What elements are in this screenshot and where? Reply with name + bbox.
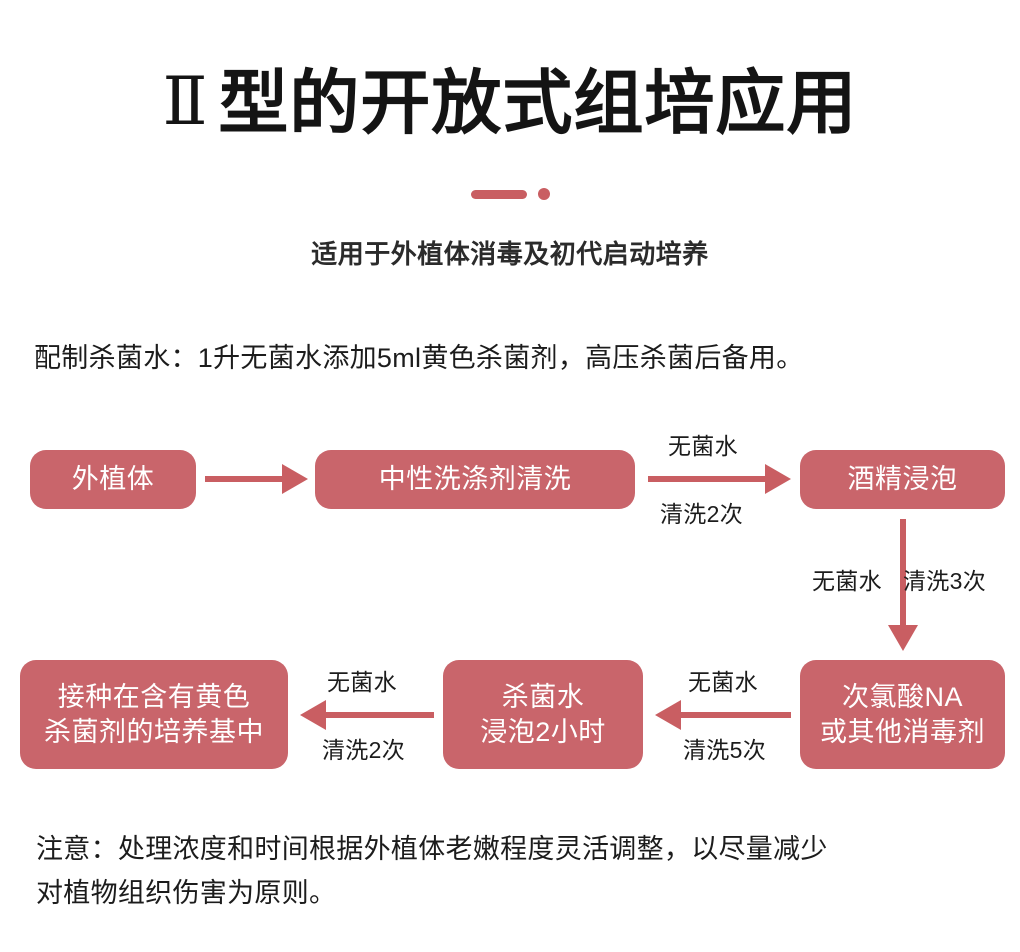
roman-numeral-two: Ⅱ [163,66,209,139]
flow-node-inoculate-medium: 接种在含有黄色 杀菌剂的培养基中 [20,660,288,769]
arrow-shaft [679,712,791,718]
page-subtitle: 适用于外植体消毒及初代启动培养 [0,234,1020,271]
arrow-shaft [648,476,767,482]
title-divider [0,186,1020,202]
page-title: Ⅱ型的开放式组培应用 [0,68,1020,139]
flow-node-label: 中性洗涤剂清洗 [379,462,572,497]
footer-note-line1: 注意：处理浓度和时间根据外植体老嫩程度灵活调整，以尽量减少 [36,828,996,872]
arrow-shaft [205,476,284,482]
arrow-head-right [765,464,791,494]
arrow-head-right [282,464,308,494]
page-title-text: 型的开放式组培应用 [218,64,857,142]
arrow-head-left [300,700,326,730]
arrow-explant-to-detergent-icon [205,464,308,494]
edge-label-sterile-inoculate-bottom: 清洗2次 [322,731,405,765]
edge-label-hypochlorite-sterile-top: 无菌水 [688,663,758,697]
flow-node-explant: 外植体 [30,450,196,509]
flow-node-alcohol-soak: 酒精浸泡 [800,450,1005,509]
arrow-head-down [888,625,918,651]
flow-node-hypochlorite: 次氯酸NA 或其他消毒剂 [800,660,1005,769]
flow-node-sterile-solution-soak: 杀菌水 浸泡2小时 [443,660,643,769]
edge-label-detergent-alcohol-bottom: 清洗2次 [660,495,743,529]
divider-dot-icon [538,188,550,200]
flow-node-detergent-wash: 中性洗涤剂清洗 [315,450,635,509]
arrow-shaft [324,712,434,718]
flow-node-label: 酒精浸泡 [848,462,958,497]
flow-node-label-line1: 接种在含有黄色 [58,680,251,715]
divider-bar-icon [471,190,527,199]
flow-node-label-line2: 杀菌剂的培养基中 [44,715,264,750]
arrow-head-left [655,700,681,730]
edge-label-sterile-inoculate-top: 无菌水 [327,663,397,697]
flow-node-label-line1: 杀菌水 [502,680,585,715]
flow-node-label-line1: 次氯酸NA [842,680,963,715]
arrow-hypochlorite-to-sterile-solution-icon [655,700,791,730]
arrow-detergent-to-alcohol-icon [648,464,791,494]
footer-note-line2: 对植物组织伤害为原则。 [36,872,996,916]
intro-text: 配制杀菌水：1升无菌水添加5ml黄色杀菌剂，高压杀菌后备用。 [34,336,804,375]
edge-label-alcohol-hypochlorite-left: 无菌水 [812,562,882,596]
edge-label-hypochlorite-sterile-bottom: 清洗5次 [683,731,766,765]
edge-label-detergent-alcohol-top: 无菌水 [668,427,738,461]
footer-note: 注意：处理浓度和时间根据外植体老嫩程度灵活调整，以尽量减少 对植物组织伤害为原则… [36,828,996,915]
arrow-sterile-solution-to-inoculate-icon [300,700,434,730]
flow-node-label-line2: 或其他消毒剂 [820,715,985,750]
flow-node-label-line2: 浸泡2小时 [480,715,606,750]
flow-node-label: 外植体 [72,462,155,497]
infographic-page: Ⅱ型的开放式组培应用 适用于外植体消毒及初代启动培养 配制杀菌水：1升无菌水添加… [0,0,1020,952]
edge-label-alcohol-hypochlorite-right: 清洗3次 [903,562,986,596]
